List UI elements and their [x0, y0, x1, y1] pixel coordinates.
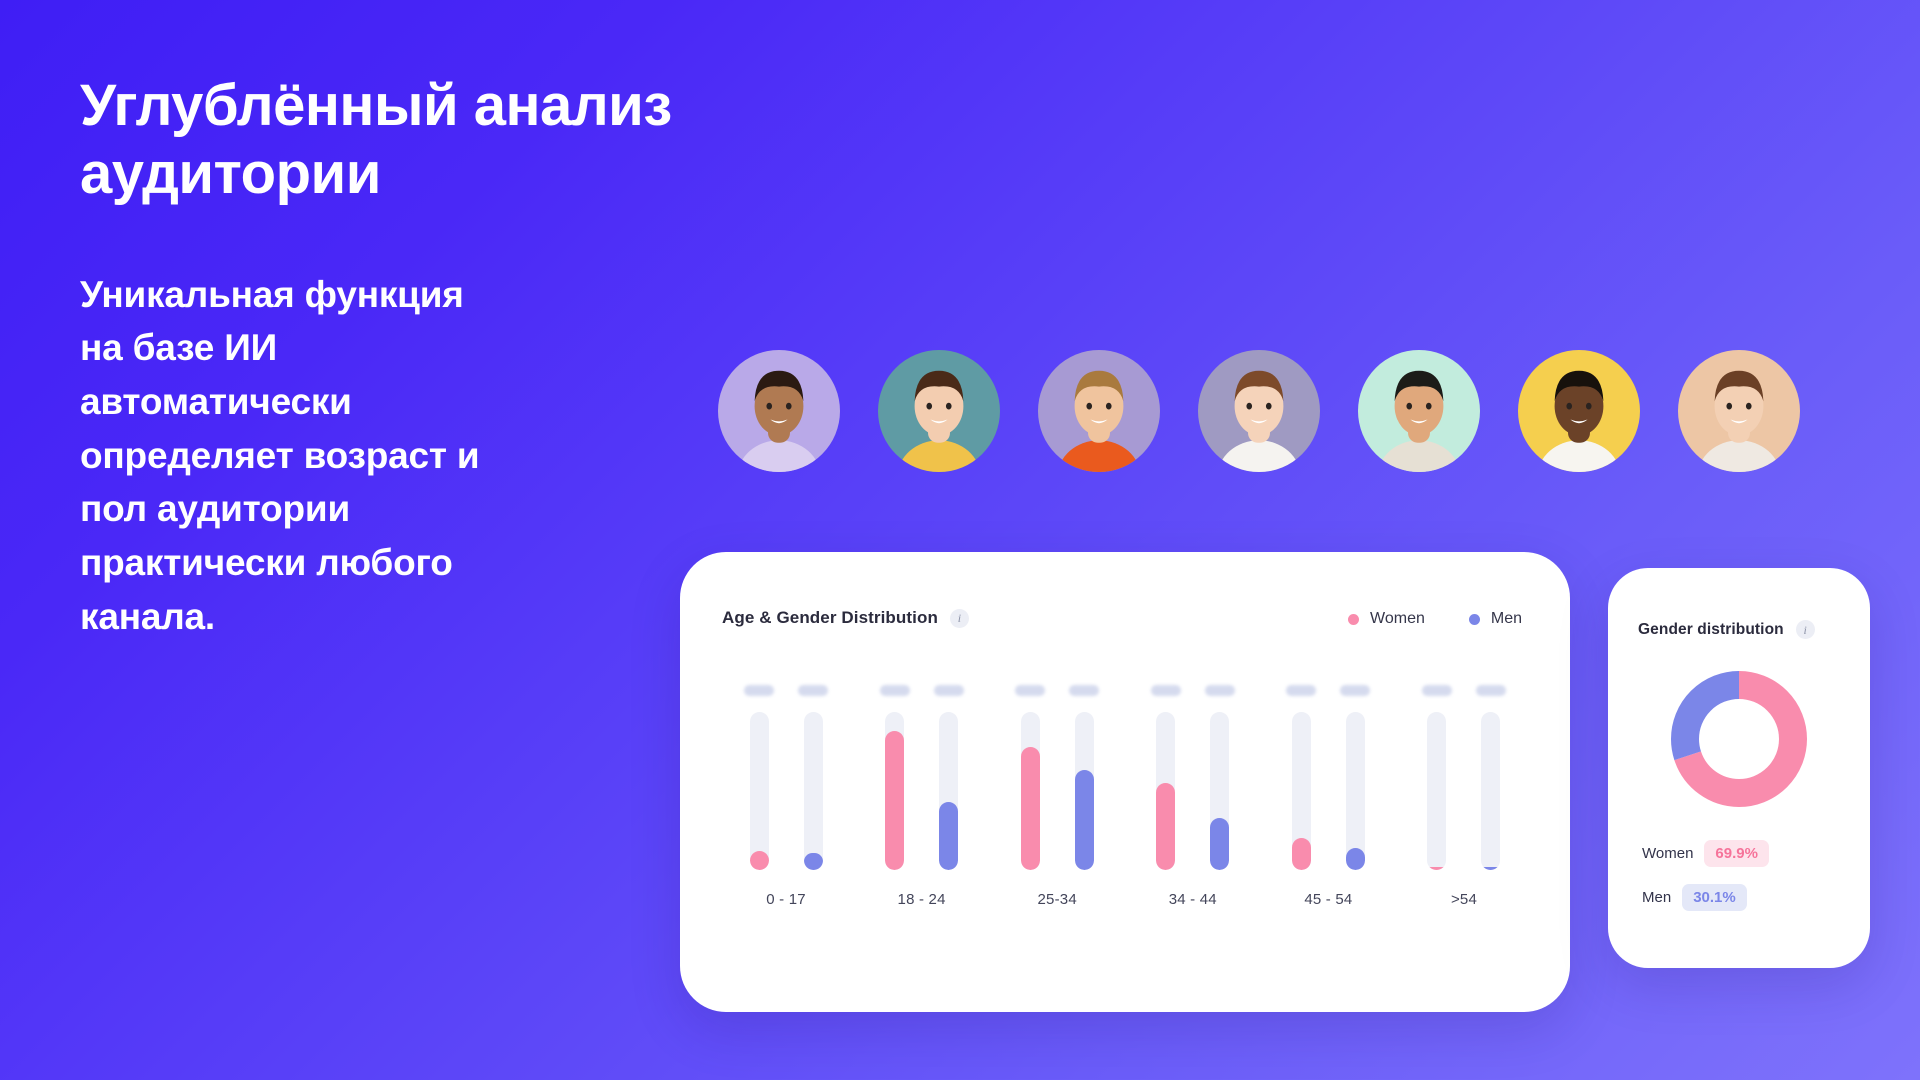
age-group: >54 [1404, 658, 1524, 956]
gender-row-men: Men30.1% [1642, 884, 1870, 911]
legend-dot-men [1469, 614, 1480, 625]
avatar-woman-long-hair [878, 350, 1000, 472]
bar-fill-men [804, 853, 823, 870]
bar-track [1021, 712, 1040, 870]
bar-column-women[interactable] [1422, 658, 1452, 870]
gender-percentage-badge: 30.1% [1682, 884, 1747, 911]
bar-track [1156, 712, 1175, 870]
value-pill-placeholder [1340, 685, 1370, 696]
info-icon[interactable]: i [1796, 620, 1815, 639]
gender-row-women: Women69.9% [1642, 840, 1870, 867]
value-pill-placeholder [1069, 685, 1099, 696]
bar-column-women[interactable] [880, 658, 910, 870]
value-pill-placeholder [798, 685, 828, 696]
age-group: 34 - 44 [1133, 658, 1253, 956]
bar-track [804, 712, 823, 870]
bar-fill-men [1346, 848, 1365, 870]
bar-track [1481, 712, 1500, 870]
bar-track [1210, 712, 1229, 870]
bar-column-women[interactable] [1151, 658, 1181, 870]
bar-track [1427, 712, 1446, 870]
chart-legend: WomenMen [1348, 610, 1522, 628]
age-group-label: >54 [1451, 891, 1477, 908]
bar-column-men[interactable] [1476, 658, 1506, 870]
value-pill-placeholder [1151, 685, 1181, 696]
legend-item-men[interactable]: Men [1469, 610, 1522, 628]
value-pill-placeholder [744, 685, 774, 696]
age-group: 25-34 [997, 658, 1117, 956]
avatar-man-glasses [1038, 350, 1160, 472]
legend-label: Men [1491, 610, 1522, 628]
gender-label: Women [1642, 845, 1693, 862]
age-group: 0 - 17 [726, 658, 846, 956]
bar-column-women[interactable] [744, 658, 774, 870]
bar-fill-women [1427, 867, 1446, 870]
value-pill-placeholder [1015, 685, 1045, 696]
age-card-header: Age & Gender Distribution i [722, 608, 969, 628]
bar-pair [1151, 658, 1235, 870]
legend-label: Women [1370, 610, 1425, 628]
value-pill-placeholder [1476, 685, 1506, 696]
bar-pair [880, 658, 964, 870]
avatar-man-smiling [1518, 350, 1640, 472]
avatar-man-curly-beard [1358, 350, 1480, 472]
bar-pair [1015, 658, 1099, 870]
age-group-label: 18 - 24 [898, 891, 946, 908]
bar-column-men[interactable] [1205, 658, 1235, 870]
bar-track [939, 712, 958, 870]
value-pill-placeholder [1422, 685, 1452, 696]
value-pill-placeholder [1286, 685, 1316, 696]
bar-track [1075, 712, 1094, 870]
bar-column-men[interactable] [1069, 658, 1099, 870]
gender-percentage-badge: 69.9% [1704, 840, 1769, 867]
age-gender-distribution-card: Age & Gender Distribution i WomenMen 0 -… [680, 552, 1570, 1012]
age-group: 45 - 54 [1268, 658, 1388, 956]
age-card-title: Age & Gender Distribution [722, 608, 938, 628]
bar-fill-women [750, 851, 769, 870]
value-pill-placeholder [880, 685, 910, 696]
legend-dot-women [1348, 614, 1359, 625]
page-title: Углублённый анализ аудитории [80, 72, 680, 208]
bar-track [1292, 712, 1311, 870]
hero-text-column: Углублённый анализ аудитории Уникальная … [80, 72, 680, 643]
value-pill-placeholder [934, 685, 964, 696]
age-group-label: 34 - 44 [1169, 891, 1217, 908]
value-pill-placeholder [1205, 685, 1235, 696]
bar-column-women[interactable] [1286, 658, 1316, 870]
age-group: 18 - 24 [862, 658, 982, 956]
info-icon[interactable]: i [950, 609, 969, 628]
bar-fill-women [1156, 783, 1175, 870]
bar-fill-women [1021, 747, 1040, 870]
bar-pair [1422, 658, 1506, 870]
gender-label: Men [1642, 889, 1671, 906]
bar-fill-men [1075, 770, 1094, 870]
bar-column-men[interactable] [798, 658, 828, 870]
bar-fill-men [1210, 818, 1229, 870]
hero-description: Уникальная функция на базе ИИ автоматиче… [80, 268, 680, 643]
age-group-label: 0 - 17 [766, 891, 806, 908]
avatar-woman-brown-hair [1678, 350, 1800, 472]
bar-track [1346, 712, 1365, 870]
gender-card-title: Gender distribution [1638, 621, 1784, 639]
bar-fill-women [1292, 838, 1311, 870]
gender-card-header: Gender distribution i [1638, 620, 1815, 639]
audience-avatars-row [718, 350, 1800, 472]
bar-track [750, 712, 769, 870]
bar-column-men[interactable] [1340, 658, 1370, 870]
bar-fill-men [1481, 867, 1500, 870]
gender-distribution-card: Gender distribution i Women69.9%Men30.1% [1608, 568, 1870, 968]
legend-item-women[interactable]: Women [1348, 610, 1425, 628]
avatar-woman-sunglasses [1198, 350, 1320, 472]
bar-track [885, 712, 904, 870]
bar-fill-men [939, 802, 958, 870]
age-group-label: 45 - 54 [1304, 891, 1352, 908]
avatar-woman-curly-hair [718, 350, 840, 472]
gender-donut-chart [1668, 668, 1810, 810]
age-gender-bar-chart: 0 - 1718 - 2425-3434 - 4445 - 54>54 [726, 658, 1524, 956]
gender-legend-rows: Women69.9%Men30.1% [1608, 840, 1870, 911]
bar-pair [744, 658, 828, 870]
bar-column-women[interactable] [1015, 658, 1045, 870]
bar-pair [1286, 658, 1370, 870]
bar-column-men[interactable] [934, 658, 964, 870]
age-group-label: 25-34 [1038, 891, 1077, 908]
bar-fill-women [885, 731, 904, 870]
